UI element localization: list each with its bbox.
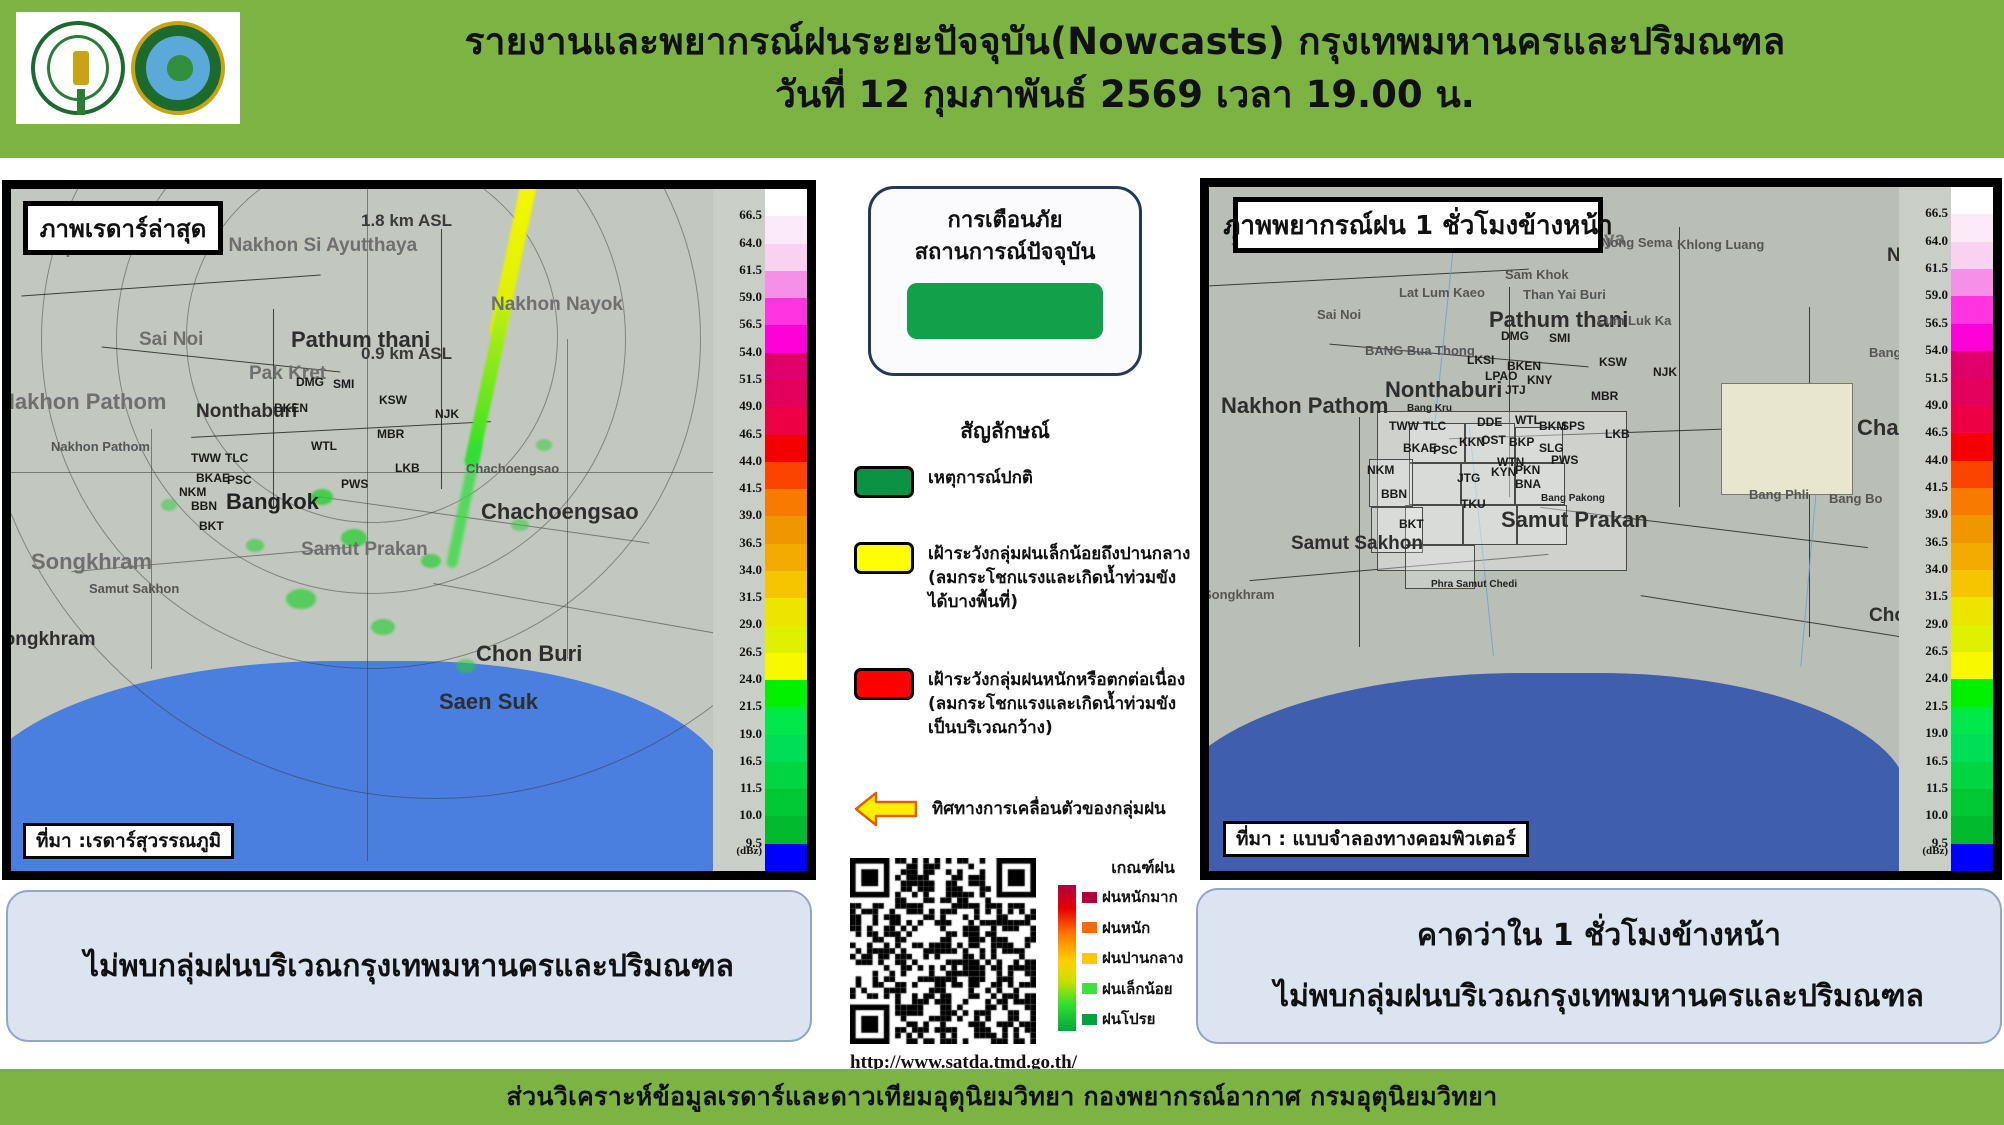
colorbar-tick: 31.5 bbox=[1925, 588, 1948, 604]
station-code: NJK bbox=[1653, 365, 1677, 379]
colorbar-tick: 21.5 bbox=[739, 698, 762, 714]
colorbar-band bbox=[1951, 406, 1993, 433]
legend-item-normal: เหตุการณ์ปกติ bbox=[854, 466, 1033, 498]
legend-item-label: ทิศทางการเคลื่อนตัวของกลุ่มฝน bbox=[932, 797, 1166, 821]
rain-scale-chip-icon bbox=[1082, 1014, 1097, 1025]
station-code: MBR bbox=[1591, 389, 1618, 403]
royal-emblem-seal-icon bbox=[31, 21, 125, 115]
colorbar-band bbox=[765, 325, 807, 352]
colorbar-band bbox=[765, 680, 807, 707]
map-label-songkhram: Songkhram bbox=[1203, 587, 1275, 602]
station-code: TLC bbox=[225, 451, 248, 465]
colorbar-band bbox=[765, 762, 807, 789]
colorbar-tick: 66.5 bbox=[1925, 205, 1948, 221]
colorbar-tick: 19.0 bbox=[739, 726, 762, 742]
station-code: LKB bbox=[1605, 427, 1630, 441]
colorbar-band bbox=[765, 462, 807, 489]
caption-line-2: ไม่พบกลุ่มฝนบริเวณกรุงเทพมหานครและปริมณฑ… bbox=[1274, 973, 1924, 1020]
map-label-samut-prakan: Samut Prakan bbox=[1501, 507, 1648, 533]
map-label-nakhon-nayok: Nakhon Nayok bbox=[491, 294, 623, 316]
legend-item-watch-light: เฝ้าระวังกลุ่มฝนเล็กน้อยถึงปานกลาง (ลมกร… bbox=[854, 542, 1190, 614]
forecast-map-canvas: Suphan Buri Phra Nakhon Si Ayutthaya Non… bbox=[1209, 187, 1993, 871]
map-label-songkhram: Songkhram bbox=[2, 629, 96, 651]
colorbar-band bbox=[765, 435, 807, 462]
colorbar-band bbox=[1951, 379, 1993, 406]
colorbar-tick: 66.5 bbox=[739, 207, 762, 223]
page-footer: ส่วนวิเคราะห์ข้อมูลเรดาร์และดาวเทียมอุตุ… bbox=[0, 1069, 2004, 1125]
radar-echo-cell bbox=[536, 439, 552, 451]
colorbar-tick: 54.0 bbox=[739, 344, 762, 360]
colorbar-band bbox=[1951, 269, 1993, 296]
map-label-bang-phli: Bang Phli bbox=[1749, 487, 1809, 502]
map-label-chachoengsao-small: Chachoengsao bbox=[466, 461, 559, 476]
station-code: JTG bbox=[1457, 471, 1480, 485]
colorbar-band bbox=[1951, 762, 1993, 789]
colorbar-band bbox=[1951, 324, 1993, 351]
map-label-chachoengsao: Chachoengsao bbox=[481, 499, 639, 525]
station-code: NKM bbox=[179, 485, 206, 499]
colorbar-tick: 39.0 bbox=[1925, 506, 1948, 522]
colorbar-strip bbox=[765, 189, 807, 871]
station-code: BBN bbox=[191, 499, 217, 513]
colorbar-tick: 59.0 bbox=[1925, 287, 1948, 303]
colorbar-tick: 10.0 bbox=[1925, 807, 1948, 823]
radar-map-canvas: 1.8 km ASL 0.9 km ASL Suphan Buri Phra N… bbox=[11, 189, 807, 871]
colorbar-band bbox=[765, 707, 807, 734]
left-arrow-icon bbox=[854, 790, 918, 828]
map-label-nakhon-pathom: Nakhon Pathom bbox=[1221, 393, 1388, 419]
colorbar-tick: 61.5 bbox=[739, 262, 762, 278]
colorbar-band bbox=[765, 598, 807, 625]
radar-source-label: ที่มา :เรดาร์สุวรรณภูมิ bbox=[23, 823, 234, 859]
colorbar-band bbox=[765, 298, 807, 325]
map-label-khlong-luang: Khlong Luang bbox=[1677, 237, 1764, 252]
legend-item-label: เหตุการณ์ปกติ bbox=[928, 466, 1033, 490]
station-code: DMG bbox=[296, 375, 324, 389]
rain-scale-item: ฝนหนักมาก bbox=[1082, 885, 1183, 909]
rain-scale-label: ฝนโปรย bbox=[1102, 1007, 1155, 1031]
colorbar-tick: 11.5 bbox=[740, 780, 762, 796]
radar-echo-cell bbox=[456, 659, 476, 673]
map-label-sam-khok: Sam Khok bbox=[1505, 267, 1569, 282]
page-header: รายงานและพยากรณ์ฝนระยะปัจจุบัน(Nowcasts)… bbox=[0, 0, 2004, 158]
logo-container bbox=[16, 12, 240, 124]
colorbar-band bbox=[765, 216, 807, 243]
colorbar-band bbox=[765, 516, 807, 543]
colorbar-band bbox=[1951, 570, 1993, 597]
rain-scale-label: ฝนหนักมาก bbox=[1102, 885, 1178, 909]
red-swatch-icon bbox=[854, 668, 914, 700]
colorbar-band bbox=[765, 380, 807, 407]
alert-title-line-1: การเตือนภัย bbox=[948, 205, 1063, 237]
colorbar-band bbox=[1951, 187, 1993, 214]
station-code: BKT bbox=[1399, 517, 1424, 531]
colorbar-band bbox=[1951, 488, 1993, 515]
rain-scale-title: เกณฑ์ฝน bbox=[1058, 856, 1228, 881]
map-label-bangkok: Bangkok bbox=[226, 489, 319, 515]
colorbar-band bbox=[765, 353, 807, 380]
radar-axis-line bbox=[11, 472, 737, 473]
colorbar-band bbox=[1951, 433, 1993, 460]
colorbar-band bbox=[765, 735, 807, 762]
colorbar-strip bbox=[1951, 187, 1993, 871]
district-cell bbox=[1409, 463, 1461, 505]
colorbar-tick: 26.5 bbox=[1925, 643, 1948, 659]
station-code: PWS bbox=[1551, 453, 1578, 467]
colorbar-tick: 10.0 bbox=[739, 807, 762, 823]
rain-scale-item: ฝนหนัก bbox=[1082, 916, 1183, 940]
station-code: BKEN bbox=[274, 401, 308, 415]
station-code: BKP bbox=[1509, 435, 1534, 449]
colorbar-band bbox=[765, 189, 807, 216]
colorbar-tick: 46.5 bbox=[1925, 424, 1948, 440]
latest-radar-label: ภาพเรดาร์ล่าสุด bbox=[23, 201, 223, 255]
map-label-samut-songkhram: Songkhram bbox=[31, 549, 152, 575]
legend-heading: สัญลักษณ์ bbox=[868, 415, 1142, 448]
colorbar-band bbox=[1951, 789, 1993, 816]
legend-item-label: เฝ้าระวังกลุ่มฝนหนักหรือตกต่อเนื่อง (ลมก… bbox=[928, 668, 1185, 740]
altitude-label-upper: 1.8 km ASL bbox=[361, 211, 452, 231]
station-code: KNY bbox=[1527, 373, 1552, 387]
map-label-lat-lum-kaeo: Lat Lum Kaeo bbox=[1399, 285, 1485, 300]
colorbar-tick: 19.0 bbox=[1925, 725, 1948, 741]
colorbar-tick: 61.5 bbox=[1925, 260, 1948, 276]
rain-scale-chip-icon bbox=[1082, 922, 1097, 933]
radar-echo-cell bbox=[161, 499, 177, 511]
rain-scale-item: ฝนปานกลาง bbox=[1082, 946, 1183, 970]
map-label-bang-bua-thong: BANG Bua Thong bbox=[1365, 343, 1475, 358]
station-code: BNA bbox=[1515, 477, 1541, 491]
colorbar-band bbox=[1951, 351, 1993, 378]
map-label-sai-noi: Sai Noi bbox=[139, 329, 203, 351]
colorbar-tick: 39.0 bbox=[739, 507, 762, 523]
map-label-pathum-thani: Pathum thani bbox=[291, 327, 430, 353]
qr-code-icon[interactable] bbox=[850, 858, 1036, 1044]
colorbar-tick: 21.5 bbox=[1925, 698, 1948, 714]
map-label-samut-prakan: Samut Prakan bbox=[301, 539, 428, 561]
rain-scale-chip-icon bbox=[1082, 892, 1097, 903]
forecast-summary-caption: คาดว่าใน 1 ชั่วโมงข้างหน้า ไม่พบกลุ่มฝนบ… bbox=[1196, 888, 2002, 1044]
colorbar-tick: 41.5 bbox=[1925, 479, 1948, 495]
caption-text: ไม่พบกลุ่มฝนบริเวณกรุงเทพมหานครและปริมณฑ… bbox=[84, 943, 734, 990]
thai-meteorological-department-seal-icon bbox=[131, 21, 225, 115]
station-code: NKM bbox=[1367, 463, 1394, 477]
colorbar-band bbox=[1951, 242, 1993, 269]
colorbar-tick: 11.5 bbox=[1926, 780, 1948, 796]
one-hour-forecast-panel[interactable]: Suphan Buri Phra Nakhon Si Ayutthaya Non… bbox=[1200, 178, 2002, 880]
colorbar-tick: 36.5 bbox=[739, 535, 762, 551]
map-label-lum-luk-ka: Lum Luk Ka bbox=[1597, 313, 1671, 328]
colorbar-tick: 44.0 bbox=[1925, 452, 1948, 468]
reflectivity-colorbar-left: 66.564.061.559.056.554.051.549.046.544.0… bbox=[713, 189, 807, 871]
station-code: SPS bbox=[1561, 419, 1585, 433]
colorbar-band bbox=[1951, 515, 1993, 542]
province-boundary bbox=[1679, 227, 1680, 507]
colorbar-band bbox=[765, 844, 807, 871]
legend-item-watch-heavy: เฝ้าระวังกลุ่มฝนหนักหรือตกต่อเนื่อง (ลมก… bbox=[854, 668, 1185, 740]
colorbar-tick: 41.5 bbox=[739, 480, 762, 496]
colorbar-tick: 51.5 bbox=[1925, 370, 1948, 386]
colorbar-tick: 31.5 bbox=[739, 589, 762, 605]
reflectivity-colorbar-right: 66.564.061.559.056.554.051.549.046.544.0… bbox=[1899, 187, 1993, 871]
station-code: SMI bbox=[1549, 331, 1570, 345]
colorbar-tick: 49.0 bbox=[739, 398, 762, 414]
colorbar-tick-labels: 66.564.061.559.056.554.051.549.046.544.0… bbox=[713, 189, 765, 871]
colorbar-tick: 26.5 bbox=[739, 644, 762, 660]
colorbar-band bbox=[1951, 707, 1993, 734]
title-line-1: รายงานและพยากรณ์ฝนระยะปัจจุบัน(Nowcasts)… bbox=[260, 18, 1990, 65]
colorbar-band bbox=[1951, 652, 1993, 679]
colorbar-band bbox=[765, 489, 807, 516]
station-code: PSC bbox=[227, 473, 252, 487]
station-code: PSC bbox=[1433, 443, 1458, 457]
map-label-bang-bo: Bang Bo bbox=[1829, 491, 1882, 506]
station-code: PKN bbox=[1515, 463, 1540, 477]
current-alert-card[interactable]: การเตือนภัย สถานการณ์ปัจจุบัน bbox=[868, 186, 1142, 376]
colorbar-band bbox=[1951, 214, 1993, 241]
colorbar-tick: 56.5 bbox=[739, 316, 762, 332]
green-swatch-icon bbox=[854, 466, 914, 498]
colorbar-band bbox=[765, 789, 807, 816]
colorbar-tick: 29.0 bbox=[1925, 616, 1948, 632]
rain-scale-label: ฝนหนัก bbox=[1102, 916, 1150, 940]
colorbar-band bbox=[1951, 296, 1993, 323]
station-code: DMG bbox=[1501, 329, 1529, 343]
radar-echo-cell bbox=[286, 589, 316, 609]
rain-scale-label: ฝนปานกลาง bbox=[1102, 946, 1183, 970]
colorbar-band bbox=[765, 244, 807, 271]
alert-status-badge bbox=[907, 283, 1103, 339]
station-code: DDE bbox=[1477, 415, 1502, 429]
legend-item-movement-direction: ทิศทางการเคลื่อนตัวของกลุ่มฝน bbox=[854, 790, 1166, 828]
colorbar-tick: 64.0 bbox=[739, 235, 762, 251]
colorbar-band bbox=[765, 816, 807, 843]
colorbar-tick: 54.0 bbox=[1925, 342, 1948, 358]
caption-line-1: คาดว่าใน 1 ชั่วโมงข้างหน้า bbox=[1417, 912, 1781, 959]
colorbar-band bbox=[1951, 625, 1993, 652]
page-title: รายงานและพยากรณ์ฝนระยะปัจจุบัน(Nowcasts)… bbox=[260, 18, 1990, 119]
radar-echo-cell bbox=[371, 619, 395, 635]
station-code: PWS bbox=[341, 477, 368, 491]
map-label-bang-pakong: Bang Pakong bbox=[1541, 493, 1605, 504]
station-code: TLC bbox=[1423, 419, 1446, 433]
colorbar-tick: 64.0 bbox=[1925, 233, 1948, 249]
rain-scale-chip-icon bbox=[1082, 953, 1097, 964]
colorbar-band bbox=[1951, 679, 1993, 706]
colorbar-tick-labels: 66.564.061.559.056.554.051.549.046.544.0… bbox=[1899, 187, 1951, 871]
colorbar-unit: (dBz) bbox=[1922, 845, 1948, 857]
colorbar-band bbox=[765, 544, 807, 571]
colorbar-band bbox=[765, 626, 807, 653]
colorbar-tick: 24.0 bbox=[739, 671, 762, 687]
colorbar-tick: 56.5 bbox=[1925, 315, 1948, 331]
station-code: LKB bbox=[395, 461, 420, 475]
rain-scale-item: ฝนเล็กน้อย bbox=[1082, 977, 1183, 1001]
rain-scale-gradient bbox=[1058, 885, 1076, 1031]
map-label-nakhon-pathom-city: Nakhon Pathom bbox=[51, 439, 150, 454]
footer-text: ส่วนวิเคราะห์ข้อมูลเรดาร์และดาวเทียมอุตุ… bbox=[507, 1077, 1498, 1117]
station-code: BBN bbox=[1381, 487, 1407, 501]
yellow-swatch-icon bbox=[854, 542, 914, 574]
station-code: BKAE bbox=[1403, 441, 1437, 455]
colorbar-unit: (dBz) bbox=[736, 845, 762, 857]
forecast-source-label: ที่มา : แบบจำลองทางคอมพิวเตอร์ bbox=[1223, 821, 1529, 857]
current-summary-caption: ไม่พบกลุ่มฝนบริเวณกรุงเทพมหานครและปริมณฑ… bbox=[6, 890, 812, 1042]
latest-radar-panel[interactable]: 1.8 km ASL 0.9 km ASL Suphan Buri Phra N… bbox=[2, 180, 816, 880]
alert-title-line-2: สถานการณ์ปัจจุบัน bbox=[915, 237, 1096, 269]
map-label-samut-sakhon: Samut Sakhon bbox=[1291, 533, 1423, 555]
province-boundary bbox=[1359, 417, 1360, 647]
station-code: OST bbox=[1481, 433, 1506, 447]
colorbar-band bbox=[1951, 543, 1993, 570]
map-label-than-yai-buri: Than Yai Buri bbox=[1523, 287, 1606, 302]
station-code: TKU bbox=[1461, 497, 1486, 511]
colorbar-tick: 51.5 bbox=[739, 371, 762, 387]
map-label-saen-suk: Saen Suk bbox=[439, 689, 538, 715]
map-label-bang-kru: Bang Kru bbox=[1407, 403, 1452, 414]
station-code: BKT bbox=[199, 519, 224, 533]
colorbar-band bbox=[1951, 816, 1993, 843]
province-boundary bbox=[1209, 269, 1529, 287]
colorbar-band bbox=[765, 407, 807, 434]
station-code: MBR bbox=[377, 427, 404, 441]
colorbar-tick: 29.0 bbox=[739, 616, 762, 632]
map-label-phra-samut-chedi: Phra Samut Chedi bbox=[1431, 579, 1517, 590]
legend-item-label: เฝ้าระวังกลุ่มฝนเล็กน้อยถึงปานกลาง (ลมกร… bbox=[928, 542, 1190, 614]
colorbar-tick: 59.0 bbox=[739, 289, 762, 305]
colorbar-tick: 34.0 bbox=[739, 562, 762, 578]
station-code: BKAE bbox=[196, 471, 230, 485]
colorbar-tick: 16.5 bbox=[739, 753, 762, 769]
station-code: KSW bbox=[1599, 355, 1627, 369]
radar-echo-cell bbox=[246, 539, 264, 552]
colorbar-band bbox=[765, 271, 807, 298]
colorbar-band bbox=[1951, 734, 1993, 761]
rain-scale-chip-icon bbox=[1082, 983, 1097, 994]
station-code: LKSI bbox=[1467, 353, 1494, 367]
radar-axis-line bbox=[367, 189, 368, 861]
title-line-2: วันที่ 12 กุมภาพันธ์ 2569 เวลา 19.00 น. bbox=[260, 71, 1990, 118]
colorbar-band bbox=[1951, 597, 1993, 624]
colorbar-tick: 36.5 bbox=[1925, 534, 1948, 550]
station-code: SLG bbox=[1539, 441, 1564, 455]
nowcast-report-page: รายงานและพยากรณ์ฝนระยะปัจจุบัน(Nowcasts)… bbox=[0, 0, 2004, 1125]
map-label-sai-noi: Sai Noi bbox=[1317, 307, 1361, 322]
station-code: SMI bbox=[333, 377, 354, 391]
station-code: TWW bbox=[1389, 419, 1419, 433]
station-code: WTL bbox=[1515, 413, 1541, 427]
colorbar-tick: 44.0 bbox=[739, 453, 762, 469]
colorbar-tick: 46.5 bbox=[739, 426, 762, 442]
map-label-chon-buri: Chon Buri bbox=[476, 641, 582, 667]
colorbar-band bbox=[1951, 844, 1993, 871]
station-code: TWW bbox=[191, 451, 221, 465]
map-label-nakhon-pathom-province: Nakhon Pathom bbox=[2, 389, 166, 415]
station-code: KSW bbox=[379, 393, 407, 407]
colorbar-tick: 16.5 bbox=[1925, 753, 1948, 769]
colorbar-tick: 49.0 bbox=[1925, 397, 1948, 413]
station-code: JTJ bbox=[1505, 383, 1526, 397]
map-label-samut-sakhon: Samut Sakhon bbox=[89, 581, 179, 596]
rain-scale-label: ฝนเล็กน้อย bbox=[1102, 977, 1173, 1001]
station-code: NJK bbox=[435, 407, 459, 421]
colorbar-band bbox=[765, 653, 807, 680]
station-code: LPAO bbox=[1485, 369, 1517, 383]
station-code: KYN bbox=[1491, 465, 1516, 479]
colorbar-band bbox=[765, 571, 807, 598]
rain-scale-item: ฝนโปรย bbox=[1082, 1007, 1183, 1031]
colorbar-tick: 34.0 bbox=[1925, 561, 1948, 577]
colorbar-tick: 24.0 bbox=[1925, 670, 1948, 686]
forecast-label: ภาพพยากรณ์ฝน 1 ชั่วโมงข้างหน้า bbox=[1233, 197, 1603, 253]
rain-scale-items: ฝนหนักมากฝนหนักฝนปานกลางฝนเล็กน้อยฝนโปรย bbox=[1082, 885, 1183, 1031]
station-code: WTL bbox=[311, 439, 337, 453]
forecast-zone-area bbox=[1721, 383, 1853, 495]
colorbar-band bbox=[1951, 461, 1993, 488]
